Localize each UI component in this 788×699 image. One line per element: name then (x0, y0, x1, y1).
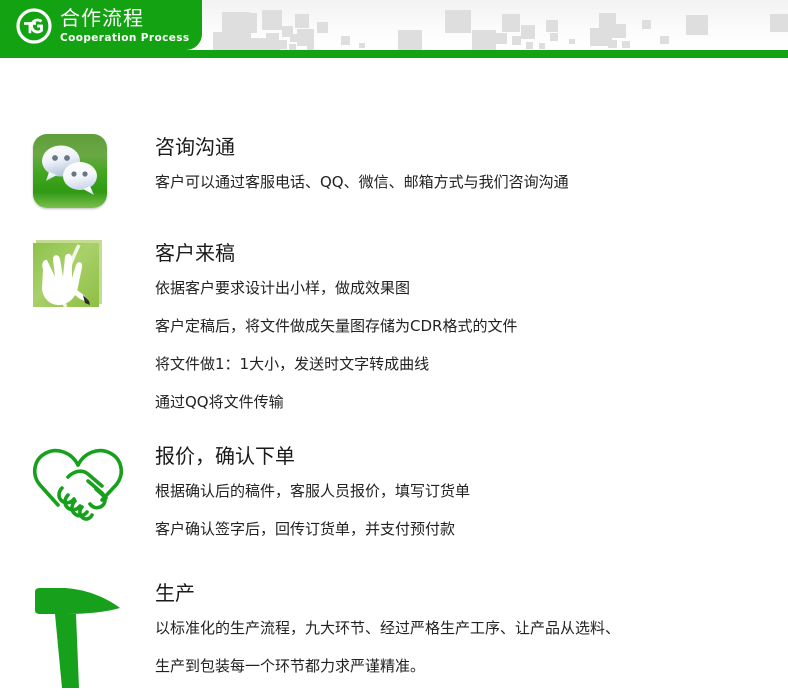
step-title: 咨询沟通 (155, 134, 775, 160)
step-title: 生产 (155, 580, 775, 606)
header-title-block: 合作流程 Cooperation Process (60, 6, 200, 45)
process-step-3-text: 报价，确认下单 根据确认后的稿件，客服人员报价，填写订货单 客户确认签字后，回传… (155, 443, 775, 539)
tg-monogram-logo-icon (16, 8, 52, 44)
process-step-1-text: 咨询沟通 客户可以通过客服电话、QQ、微信、邮箱方式与我们咨询沟通 (155, 134, 775, 192)
hand-with-pen-icon (33, 240, 107, 310)
step-line: 通过QQ将文件传输 (155, 392, 775, 412)
step-line: 生产到包装每一个环节都力求严谨精准。 (155, 656, 775, 676)
step-line: 以标准化的生产流程，九大环节、经过严格生产工序、让产品从选料、 (155, 618, 775, 638)
process-step-2-text: 客户来稿 依据客户要求设计出小样，做成效果图 客户定稿后，将文件做成矢量图存储为… (155, 240, 775, 412)
step-line: 根据确认后的稿件，客服人员报价，填写订货单 (155, 481, 775, 501)
hammer-icon (28, 580, 128, 699)
process-step-4-text: 生产 以标准化的生产流程，九大环节、经过严格生产工序、让产品从选料、 生产到包装… (155, 580, 775, 676)
step-line: 客户可以通过客服电话、QQ、微信、邮箱方式与我们咨询沟通 (155, 172, 775, 192)
step-title: 报价，确认下单 (155, 443, 775, 469)
step-line: 客户定稿后，将文件做成矢量图存储为CDR格式的文件 (155, 316, 775, 336)
header-bottom-bar (0, 50, 788, 58)
handshake-heart-icon (28, 443, 128, 531)
wechat-chat-bubbles-icon (33, 134, 107, 208)
page-subtitle: Cooperation Process (60, 31, 200, 45)
step-title: 客户来稿 (155, 240, 775, 266)
step-line: 将文件做1：1大小，发送时文字转成曲线 (155, 354, 775, 374)
page-header: 合作流程 Cooperation Process (0, 0, 788, 58)
step-line: 客户确认签字后，回传订货单，并支付预付款 (155, 519, 775, 539)
page-title: 合作流程 (60, 6, 200, 30)
step-line: 依据客户要求设计出小样，做成效果图 (155, 278, 775, 298)
